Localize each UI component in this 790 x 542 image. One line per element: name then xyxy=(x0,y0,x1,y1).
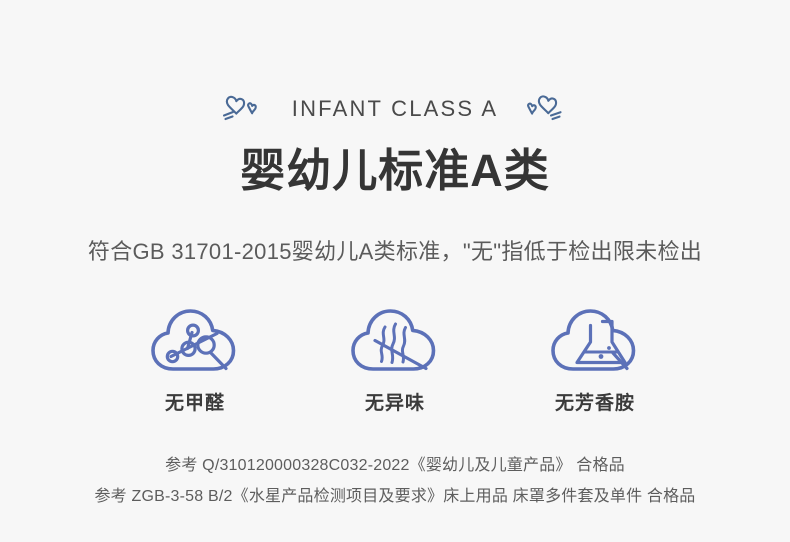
cloud-molecule-no-formaldehyde-icon xyxy=(147,300,243,378)
feature-label: 无异味 xyxy=(365,394,425,413)
feature-item: 无异味 xyxy=(321,300,469,413)
hand-drawn-hearts-icon xyxy=(220,88,266,130)
cloud-flask-no-aromatic-amine-icon xyxy=(547,300,643,378)
page-title: 婴幼儿标准A类 xyxy=(0,143,790,199)
kicker-label: INFANT CLASS A xyxy=(292,98,498,120)
feature-list: 无甲醛 无异味 xyxy=(0,300,790,413)
feature-label: 无芳香胺 xyxy=(555,394,635,413)
certification-banner: INFANT CLASS A 婴幼儿标准A类 符合GB 31701-2015婴幼… xyxy=(0,0,790,542)
footnote-line: 参考 ZGB-3-58 B/2《水星产品检测项目及要求》床上用品 床罩多件套及单… xyxy=(0,481,790,512)
footnote-list: 参考 Q/310120000328C032-2022《婴幼儿及儿童产品》 合格品… xyxy=(0,450,790,512)
hand-drawn-hearts-icon xyxy=(524,88,570,130)
feature-label: 无甲醛 xyxy=(165,394,225,413)
cloud-smoke-no-odor-icon xyxy=(347,300,443,378)
page-subtitle: 符合GB 31701-2015婴幼儿A类标准，"无"指低于检出限未检出 xyxy=(0,237,790,268)
kicker-row: INFANT CLASS A xyxy=(0,86,790,132)
footnote-line: 参考 Q/310120000328C032-2022《婴幼儿及儿童产品》 合格品 xyxy=(0,450,790,481)
feature-item: 无甲醛 xyxy=(121,300,269,413)
feature-item: 无芳香胺 xyxy=(521,300,669,413)
